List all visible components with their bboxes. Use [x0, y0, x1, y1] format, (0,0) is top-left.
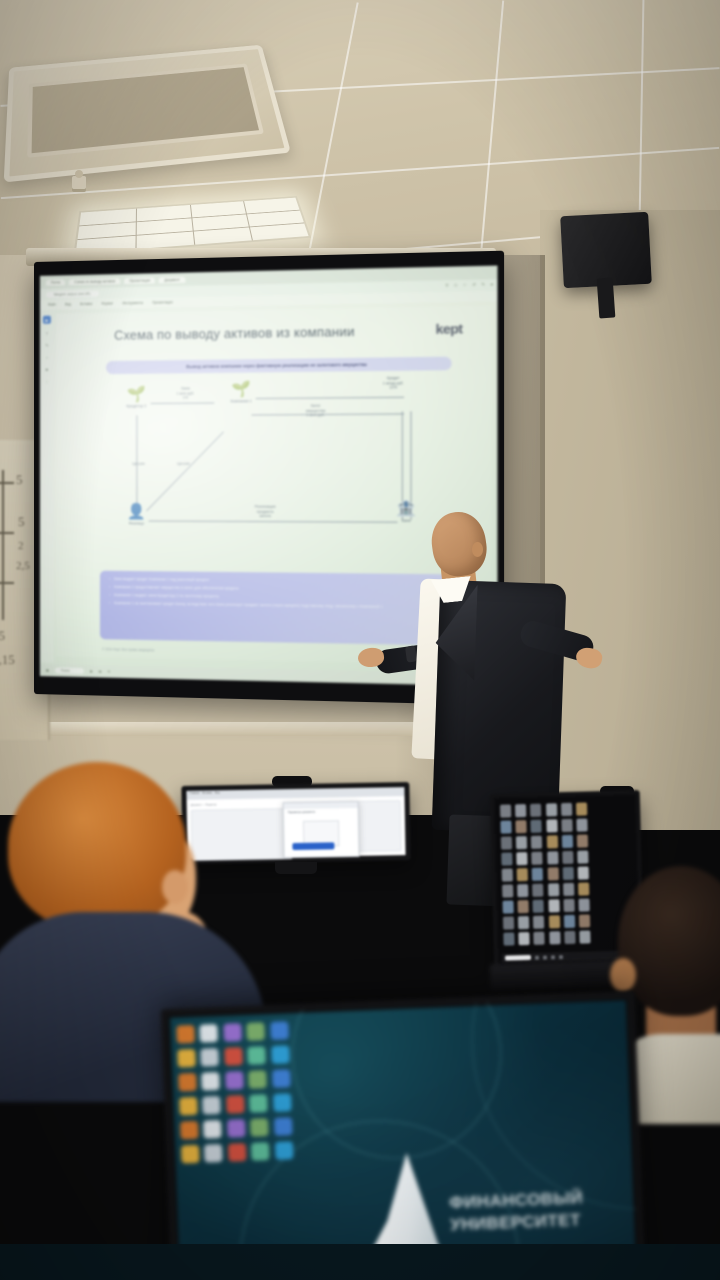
mail-icon[interactable]: ✉ [108, 670, 111, 674]
node-label: Кредитор 2 [110, 404, 163, 408]
desktop-icon[interactable] [247, 1046, 266, 1065]
desktop-icon[interactable] [548, 899, 559, 912]
desktop-icon[interactable] [273, 1093, 292, 1112]
ceiling-speaker [560, 212, 652, 289]
start-icon[interactable]: ▦ [46, 668, 49, 672]
whiteboard-mark: 5 [18, 514, 25, 530]
edge-label-loan: Заем 1 млн руб. 1% [161, 386, 210, 400]
desktop-icon[interactable] [561, 803, 572, 816]
taskbar-search-input[interactable] [505, 955, 531, 961]
desktop-icon[interactable] [546, 835, 557, 848]
slide-title: Схема по выводу активов из компании [114, 325, 355, 343]
desktop-icon[interactable] [577, 850, 588, 863]
desktop-icon[interactable] [547, 867, 558, 880]
desktop-icon[interactable] [545, 803, 556, 816]
desktop-icon[interactable] [548, 915, 559, 928]
files-icon[interactable]: ▤ [99, 669, 102, 673]
desktop-icon[interactable] [500, 804, 511, 817]
money-bag-icon: 🌱 [214, 382, 268, 399]
desktop-icon[interactable] [248, 1070, 267, 1089]
desktop-icon[interactable] [226, 1095, 245, 1114]
desktop-icon[interactable] [579, 914, 590, 927]
ceiling-ac-vent [4, 45, 291, 183]
desktop-icon[interactable] [564, 931, 575, 944]
desktop-icon[interactable] [516, 836, 527, 849]
desktop-icon[interactable] [577, 866, 588, 879]
desktop-icon[interactable] [516, 820, 527, 833]
edge-label-credit: Кредит 1 млрд руб. 12% [363, 376, 423, 391]
edge-company1-person [146, 432, 224, 512]
logo-line-1: ФИНАНСОВЫЙ [449, 1188, 583, 1213]
desktop-icon[interactable] [204, 1144, 223, 1163]
desktop-icon[interactable] [246, 1022, 265, 1041]
diagram-node-company1: 🌱 Компания 1 [214, 382, 268, 404]
student-ear [162, 870, 188, 904]
node-label: Физлицо [110, 521, 163, 525]
edge-label-cession-2: Цессия [169, 462, 198, 467]
more-icon[interactable]: ⋮ [45, 379, 49, 384]
presenter-watch [405, 645, 417, 662]
menu-item-file[interactable]: Файл [48, 303, 56, 307]
desktop-icon[interactable] [224, 1047, 243, 1066]
lecture-room-photo: 5 5 2 2,5 55 0,15 Почта Схема по выводу … [0, 0, 720, 1280]
desktop-icon[interactable] [272, 1069, 291, 1088]
desktop-icon[interactable] [549, 931, 560, 944]
desktop-icon[interactable] [503, 916, 514, 929]
text-icon[interactable]: T [46, 331, 48, 336]
extensions-icon[interactable]: ◇ [454, 282, 457, 287]
desktop-icon[interactable] [579, 930, 590, 943]
desktop-icon[interactable] [547, 851, 558, 864]
app-tool-sidebar[interactable]: ▶ T ✎ ○ ■ ⋮ [40, 310, 54, 663]
front-desk [0, 1244, 720, 1280]
desktop-icon[interactable] [518, 932, 529, 945]
desktop-icon[interactable] [202, 1096, 221, 1115]
desktop-icon[interactable] [563, 883, 574, 896]
menu-item-presentation[interactable]: Презентация [152, 300, 172, 304]
share-icon[interactable]: ↺ [472, 282, 476, 287]
edge-bank-company1 [256, 397, 404, 399]
shape-icon[interactable]: ■ [46, 367, 48, 372]
desktop-icon[interactable] [563, 899, 574, 912]
desktop-icon[interactable] [518, 900, 529, 913]
desktop-icon[interactable] [530, 804, 541, 817]
sprinkler-icon [72, 176, 86, 192]
presenter-ear [472, 542, 483, 557]
desktop-icon[interactable] [531, 820, 542, 833]
desktop-icon[interactable] [203, 1120, 222, 1139]
desktop-icon[interactable] [517, 884, 528, 897]
whiteboard-mark: 5 [16, 472, 23, 488]
desktop-icon[interactable] [562, 867, 573, 880]
browser-icon[interactable] [551, 955, 555, 959]
university-name: ФИНАНСОВЫЙ УНИВЕРСИТЕТ [449, 1188, 584, 1235]
desktop-icon[interactable] [176, 1025, 195, 1044]
diagram-node-person: 👤 Физлицо [110, 504, 163, 525]
whiteboard-mark: 0,15 [0, 652, 15, 668]
desktop-icon[interactable] [516, 852, 527, 865]
desktop-icon[interactable] [500, 820, 511, 833]
desktop-icon[interactable] [178, 1073, 197, 1092]
person-icon: 👤 [110, 504, 163, 520]
desktop-icon[interactable] [517, 868, 528, 881]
desktop-icon[interactable] [250, 1118, 269, 1137]
desktop-icon[interactable] [515, 804, 526, 817]
slide-footer: © 2024 Kept. Все права защищены [102, 647, 154, 652]
student-hair [8, 762, 186, 930]
desktop-icon[interactable] [532, 868, 543, 881]
bookmark-icon[interactable]: ☆ [463, 282, 467, 287]
browser-toolbar-icons[interactable]: ⚲ ◇ ☆ ↺ ✎ ● [445, 281, 493, 287]
desktop-icon[interactable] [578, 898, 589, 911]
search-icon[interactable]: ⚲ [445, 282, 448, 287]
desktop-icon[interactable] [533, 916, 544, 929]
pen-icon[interactable]: ✎ [45, 343, 48, 348]
mail-icon[interactable] [559, 955, 563, 959]
edge-bank-person [149, 521, 398, 523]
desktop-icon[interactable] [546, 819, 557, 832]
desktop-icon[interactable] [501, 852, 512, 865]
desktop-icon[interactable] [532, 852, 543, 865]
node-label: Компания 1 [214, 399, 268, 404]
desktop-icon[interactable] [531, 836, 542, 849]
desktop-icon[interactable] [533, 900, 544, 913]
desktop-icon[interactable] [177, 1049, 196, 1068]
diagram-node-creditor2: 🌱 Кредитор 2 [110, 387, 163, 409]
menu-item-format[interactable]: Формат [101, 301, 113, 305]
money-bag-icon: 🌱 [110, 387, 163, 404]
browser-tab[interactable]: Схема по выводу активов [69, 278, 120, 285]
desktop-icon[interactable] [503, 932, 514, 945]
desktop-icon[interactable] [532, 884, 543, 897]
kept-logo: kept [436, 321, 463, 337]
whiteboard-mark: 2 [18, 540, 24, 552]
desktop-icon[interactable] [227, 1119, 246, 1138]
explorer-icon[interactable] [543, 955, 547, 959]
desktop-icon[interactable] [274, 1117, 293, 1136]
desktop-icon[interactable] [228, 1143, 247, 1162]
menu-item-insert[interactable]: Вставка [80, 302, 92, 306]
pen-icon[interactable]: ✎ [481, 282, 485, 287]
edge-label-cession-1: Цессия [124, 462, 152, 467]
desktop-icon[interactable] [502, 884, 513, 897]
cursor-icon[interactable]: ▶ [43, 316, 51, 324]
back-monitor-stand [275, 862, 317, 874]
desktop-icon[interactable] [201, 1048, 220, 1067]
desktop-icon[interactable] [578, 882, 589, 895]
desktop-icon[interactable] [576, 802, 587, 815]
edge-label-pledge-sale: Реализация предмета залога [229, 505, 302, 519]
browser-tab[interactable]: Почта [46, 279, 65, 285]
desktop-icon[interactable] [251, 1142, 270, 1161]
desktop-icon[interactable] [534, 932, 545, 945]
browser-tab[interactable]: Документ [159, 276, 185, 283]
wall-rail [0, 722, 430, 736]
whiteboard-mark: 55 [0, 628, 5, 644]
desktop-icon[interactable] [270, 1021, 289, 1040]
desktop-icon[interactable] [225, 1071, 244, 1090]
desktop-icon[interactable] [271, 1045, 290, 1064]
desktop-icon[interactable] [249, 1094, 268, 1113]
desktop-icon[interactable] [179, 1097, 198, 1116]
menu-item-tools[interactable]: Инструменты [122, 301, 143, 305]
desktop-icon[interactable] [274, 1141, 293, 1160]
desktop-icon[interactable] [501, 836, 512, 849]
menu-item-view[interactable]: Вид [65, 302, 71, 306]
slide-subtitle-banner: Вывод активов компании через фиктивную р… [106, 357, 452, 375]
desktop-icon[interactable] [561, 835, 572, 848]
desktop-icon[interactable] [518, 916, 529, 929]
edge-label-pledge: Залог имущества 1 млн руб. [283, 403, 348, 418]
desktop-icon[interactable] [562, 851, 573, 864]
desktop-icon[interactable] [561, 819, 572, 832]
back-monitor-dialog[interactable]: Параметры документа [283, 801, 360, 858]
desktop-icon[interactable] [548, 883, 559, 896]
start-icon[interactable] [535, 955, 539, 959]
desktop-icon[interactable] [577, 834, 588, 847]
taskbar-search-input[interactable]: Поиск [55, 667, 84, 674]
desktop-icon[interactable] [576, 818, 587, 831]
desktop-icon[interactable] [223, 1023, 242, 1042]
desktop-icon[interactable] [181, 1145, 200, 1164]
browser-icon[interactable]: ◉ [90, 669, 93, 673]
comment-icon[interactable]: ○ [46, 355, 48, 360]
front-monitor[interactable]: ФИНАНСОВЫЙ УНИВЕРСИТЕТ [161, 991, 646, 1280]
address-input[interactable]: Введите запрос или URL [46, 290, 99, 297]
desktop-icon[interactable] [502, 900, 513, 913]
desktop-icon[interactable] [564, 915, 575, 928]
desktop-icon[interactable] [200, 1024, 219, 1043]
dialog-primary-button[interactable] [292, 842, 334, 850]
desktop-icon[interactable] [180, 1121, 199, 1140]
desktop-icon-grid[interactable] [500, 802, 592, 945]
whiteboard-mark: 2,5 [16, 560, 30, 572]
browser-tab[interactable]: Презентация [124, 277, 155, 284]
desktop-icon[interactable] [502, 868, 513, 881]
dialog-title: Параметры документа [284, 808, 358, 814]
speaker-mount [597, 277, 616, 318]
student-ear [610, 958, 636, 992]
desktop-icon-grid[interactable] [176, 1021, 293, 1163]
logo-line-2: УНИВЕРСИТЕТ [450, 1210, 584, 1235]
profile-icon[interactable]: ● [490, 281, 493, 286]
front-monitor-screen: ФИНАНСОВЫЙ УНИВЕРСИТЕТ [170, 1000, 636, 1280]
desktop-icon[interactable] [202, 1072, 221, 1091]
ceiling-light-panel [73, 196, 311, 256]
